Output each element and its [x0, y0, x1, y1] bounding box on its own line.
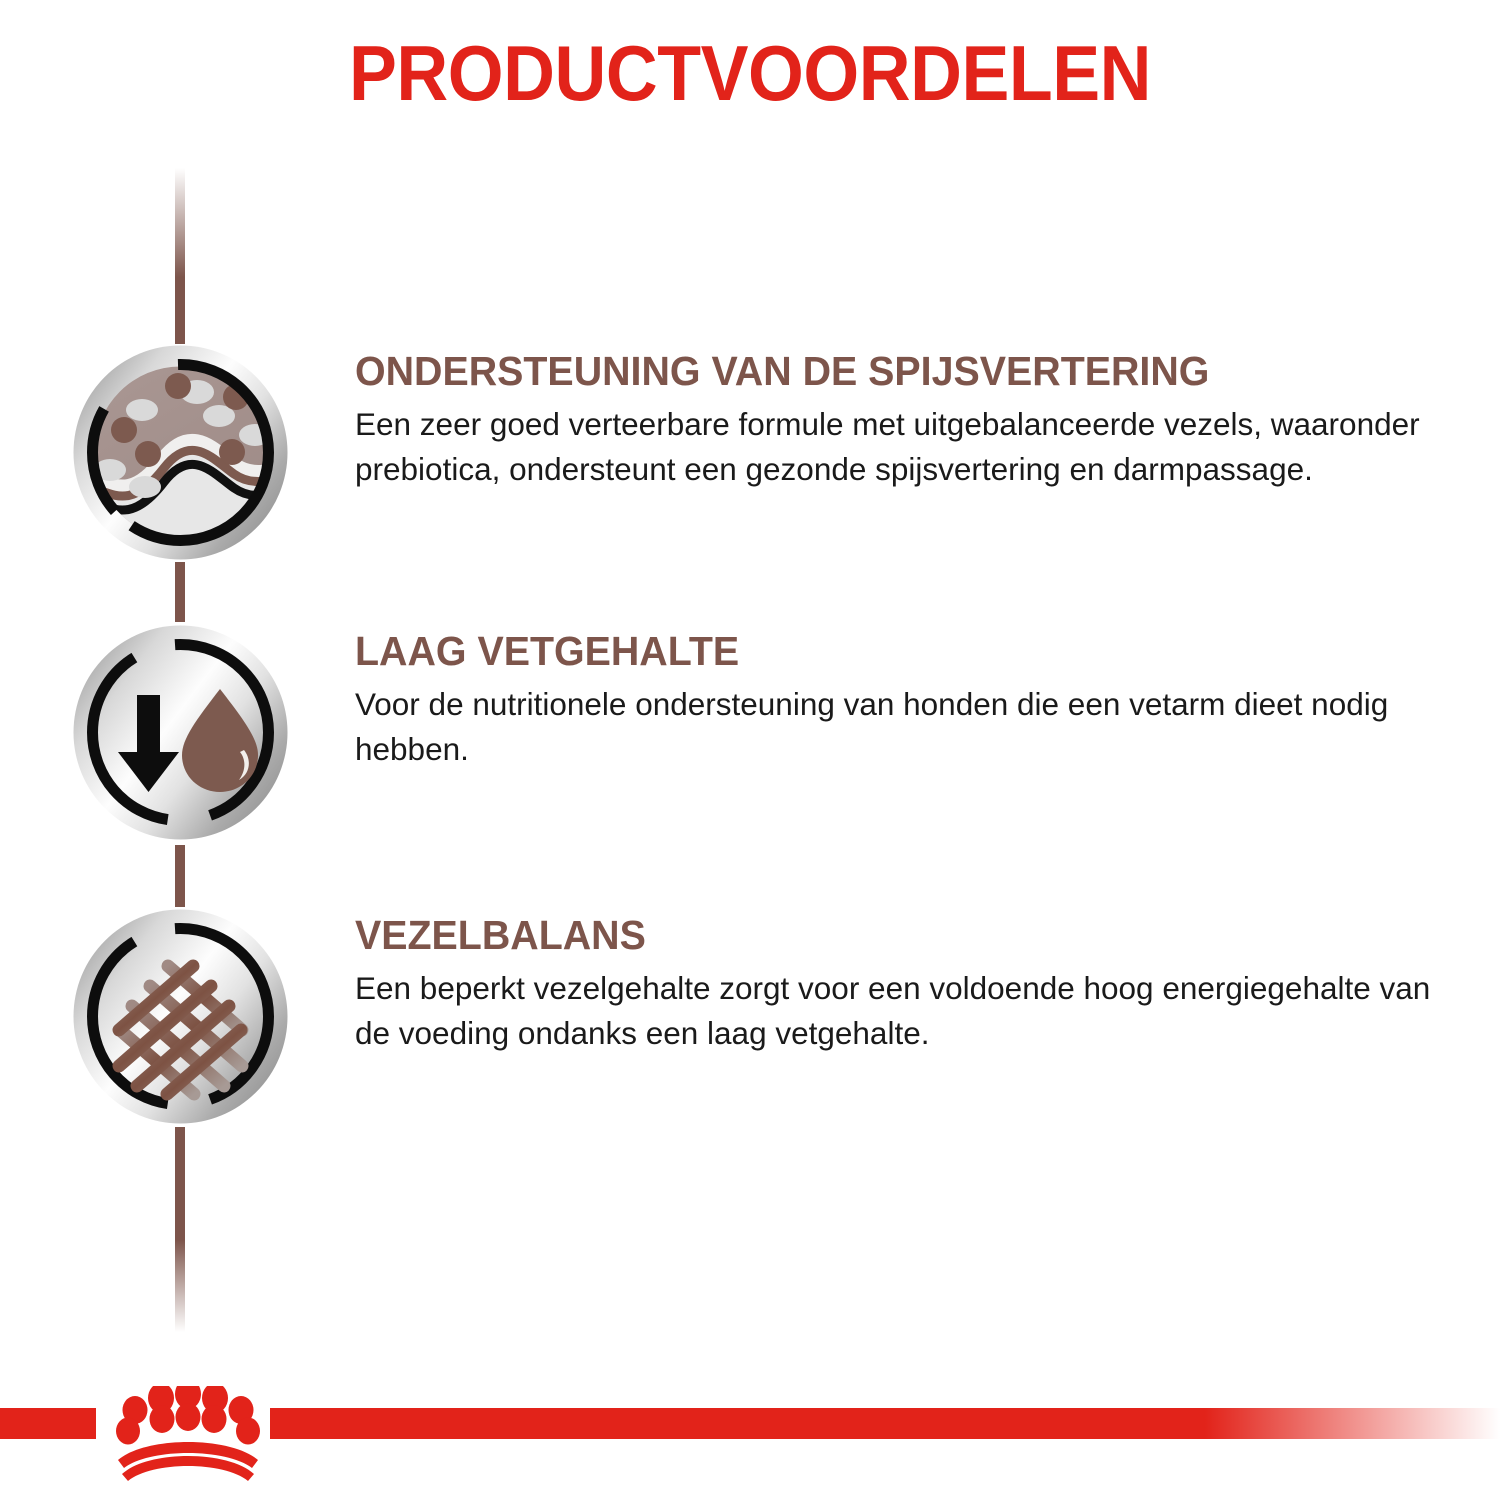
benefit-heading: VEZELBALANS [355, 914, 1421, 957]
benefit-heading: ONDERSTEUNING VAN DE SPIJSVERTERING [355, 350, 1421, 393]
fiber-balance-icon [72, 908, 289, 1125]
footer-brand-band [0, 1402, 1500, 1500]
benefit-body: Een beperkt vezelgehalte zorgt voor een … [355, 966, 1465, 1055]
benefit-text-block: LAAG VETGEHALTE Voor de nutritionele ond… [355, 630, 1465, 771]
royal-canin-crown-logo [102, 1386, 274, 1482]
footer-bar-left [0, 1408, 96, 1439]
benefit-body: Voor de nutritionele ondersteuning van h… [355, 682, 1465, 771]
benefit-text-block: ONDERSTEUNING VAN DE SPIJSVERTERING Een … [355, 350, 1465, 491]
page-title: PRODUCTVOORDELEN [60, 34, 1440, 112]
benefit-body: Een zeer goed verteerbare formule met ui… [355, 402, 1440, 491]
timeline-spine-segment-2 [175, 845, 185, 907]
digestive-support-icon [72, 344, 289, 561]
timeline-spine-segment-1 [175, 562, 185, 622]
footer-bar-right [270, 1408, 1500, 1439]
benefit-item-low-fat: LAAG VETGEHALTE Voor de nutritionele ond… [0, 624, 1500, 844]
benefit-heading: LAAG VETGEHALTE [355, 630, 1421, 673]
benefit-item-digestive-support: ONDERSTEUNING VAN DE SPIJSVERTERING Een … [0, 344, 1500, 564]
benefit-text-block: VEZELBALANS Een beperkt vezelgehalte zor… [355, 914, 1465, 1055]
timeline-spine-top [175, 168, 185, 344]
timeline-spine-bottom [175, 1127, 185, 1332]
low-fat-icon [72, 624, 289, 841]
benefit-item-fiber-balance: VEZELBALANS Een beperkt vezelgehalte zor… [0, 908, 1500, 1128]
